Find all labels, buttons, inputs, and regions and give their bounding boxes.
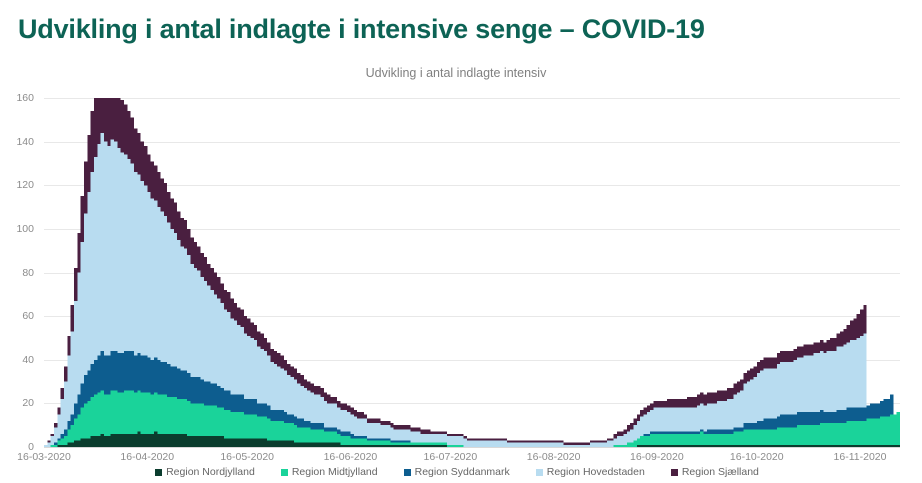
legend-swatch-icon [536, 469, 543, 476]
area-series-svg [44, 98, 900, 447]
y-axis-tick-label: 160 [0, 92, 34, 104]
x-axis-tick-label: 16-10-2020 [730, 451, 784, 463]
y-axis-tick-label: 140 [0, 136, 34, 148]
x-axis-tick-label: 16-05-2020 [220, 451, 274, 463]
legend-swatch-icon [671, 469, 678, 476]
x-axis-tick-label: 16-11-2020 [834, 451, 887, 463]
legend-label: Region Nordjylland [166, 466, 255, 478]
y-axis-tick-label: 100 [0, 223, 34, 235]
legend-swatch-icon [281, 469, 288, 476]
x-axis-tick-label: 16-09-2020 [630, 451, 684, 463]
x-axis-tick-label: 16-03-2020 [17, 451, 71, 463]
x-axis-tick-label: 16-04-2020 [120, 451, 174, 463]
legend-item[interactable]: Region Sjælland [671, 466, 759, 478]
chart-subtitle: Udvikling i antal indlagte intensiv [0, 66, 922, 80]
x-axis-tick-label: 16-07-2020 [423, 451, 477, 463]
legend-label: Region Syddanmark [415, 466, 510, 478]
chart-legend: Region NordjyllandRegion MidtjyllandRegi… [0, 466, 922, 478]
legend-item[interactable]: Region Hovedstaden [536, 466, 645, 478]
chart-plot-area: 020406080100120140160 16-03-202016-04-20… [0, 88, 922, 463]
y-axis-tick-label: 20 [0, 397, 34, 409]
gridline [44, 447, 900, 448]
legend-item[interactable]: Region Syddanmark [404, 466, 510, 478]
y-axis-tick-label: 40 [0, 354, 34, 366]
y-axis-tick-label: 120 [0, 179, 34, 191]
stacked-area-plot [44, 98, 900, 447]
legend-label: Region Hovedstaden [547, 466, 645, 478]
legend-label: Region Midtjylland [292, 466, 378, 478]
x-axis-ticks: 16-03-202016-04-202016-05-202016-06-2020… [44, 451, 900, 467]
y-axis-tick-label: 80 [0, 267, 34, 279]
legend-swatch-icon [155, 469, 162, 476]
x-axis-tick-label: 16-08-2020 [527, 451, 581, 463]
legend-swatch-icon [404, 469, 411, 476]
page-title: Udvikling i antal indlagte i intensive s… [18, 14, 705, 45]
x-axis-tick-label: 16-06-2020 [324, 451, 378, 463]
y-axis-tick-label: 60 [0, 310, 34, 322]
legend-item[interactable]: Region Nordjylland [155, 466, 255, 478]
legend-item[interactable]: Region Midtjylland [281, 466, 378, 478]
legend-label: Region Sjælland [682, 466, 759, 478]
y-axis-ticks: 020406080100120140160 [0, 98, 38, 447]
